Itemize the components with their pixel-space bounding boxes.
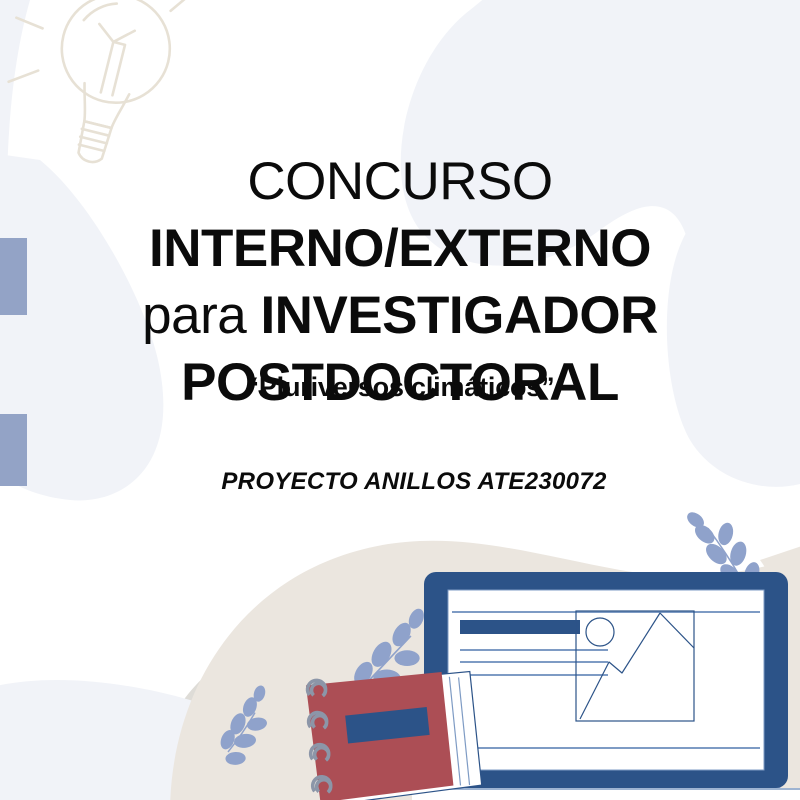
headline-line-1-bold: INTERNO/EXTERNO bbox=[149, 219, 651, 278]
headline-line-2: para INVESTIGADOR bbox=[0, 282, 800, 349]
poster-subtitle: “Pluriversos climáticos” bbox=[0, 372, 800, 403]
headline-line-1-regular: CONCURSO bbox=[247, 152, 552, 211]
headline-line-2-regular: para bbox=[142, 286, 260, 345]
text-layer: CONCURSO INTERNO/EXTERNO para INVESTIGAD… bbox=[0, 0, 800, 800]
poster-canvas: CONCURSO INTERNO/EXTERNO para INVESTIGAD… bbox=[0, 0, 800, 800]
headline-line-1: CONCURSO INTERNO/EXTERNO bbox=[0, 148, 800, 282]
project-code-line: PROYECTO ANILLOS ATE230072 bbox=[0, 468, 800, 496]
headline-line-2-bold: INVESTIGADOR bbox=[260, 286, 657, 345]
